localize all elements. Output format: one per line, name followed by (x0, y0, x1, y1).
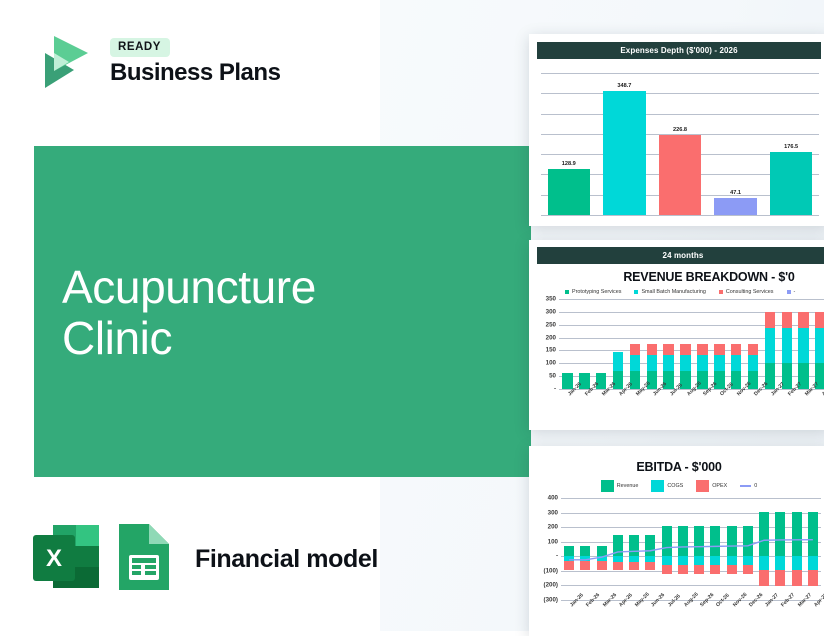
bar-segment (748, 355, 758, 370)
legend-label: - (794, 289, 796, 295)
bar-column[interactable] (724, 498, 740, 600)
ebitda-plot-area: 400300200100-(100)(200)(300) (561, 498, 821, 600)
y-axis-tick: 250 (546, 321, 556, 328)
bar-segment (662, 526, 672, 556)
bar-segment (815, 328, 824, 363)
chart-title-ebitda: EBITDA - $'000 (529, 460, 824, 474)
stacked-bar-negative[interactable] (662, 556, 672, 573)
bar-column[interactable] (642, 498, 658, 600)
bar-segment (680, 344, 690, 355)
y-axis-tick: - (556, 553, 558, 560)
bar-column[interactable] (576, 299, 593, 389)
stacked-bar-positive[interactable] (759, 512, 769, 557)
bar-column[interactable]: 128.9 (541, 73, 597, 215)
stacked-bar-positive[interactable] (694, 526, 704, 556)
bar-column[interactable] (772, 498, 788, 600)
brand-name: Business Plans (110, 60, 280, 86)
bar-segment (629, 535, 639, 556)
legend-swatch (740, 485, 751, 487)
stacked-bar-negative[interactable] (629, 556, 639, 570)
expenses-plot-area: 128.9348.7226.847.1176.5 (541, 73, 819, 215)
bar-column[interactable] (643, 299, 660, 389)
bar-segment (798, 328, 808, 363)
bar-segment (564, 561, 574, 570)
chart-title-revenue: REVENUE BREAKDOWN - $'0 (529, 270, 824, 284)
legend-label: Consulting Services (726, 289, 774, 295)
bar-segment (562, 373, 572, 389)
bar-segment (714, 344, 724, 355)
bar-segment (759, 556, 769, 569)
bar-segment (714, 355, 724, 370)
svg-text:X: X (46, 545, 62, 572)
legend-label: COGS (667, 483, 683, 489)
bar-segment (613, 562, 623, 571)
financial-model-label: Financial model (195, 545, 378, 574)
stacked-bar-negative[interactable] (710, 556, 720, 573)
gridline (541, 215, 819, 216)
bar-column[interactable] (610, 498, 626, 600)
brand-logo-block: READY Business Plans (34, 31, 280, 93)
bar-column[interactable]: 348.7 (597, 73, 653, 215)
legend-label: Prototyping Services (572, 289, 621, 295)
revenue-x-axis-labels: Jan-26Feb-26Mar-26Apr-26May-26Jun-26Jul-… (559, 391, 824, 419)
bar-segment (743, 526, 753, 556)
bar-column[interactable]: 226.8 (652, 73, 708, 215)
bar-segment (678, 556, 688, 564)
legend-swatch (601, 480, 614, 492)
bar-segment (727, 556, 737, 564)
bar-segment (597, 561, 607, 570)
play-triangles-logo-icon (34, 31, 96, 93)
bar-column[interactable]: 176.5 (763, 73, 819, 215)
legend-label: 0 (754, 483, 757, 489)
legend-label: Revenue (617, 483, 639, 489)
stacked-bar-negative[interactable] (694, 556, 704, 573)
bar-column[interactable] (711, 299, 728, 389)
bar-segment (630, 344, 640, 355)
bar-column[interactable] (594, 498, 610, 600)
bar-segment (808, 570, 818, 586)
bar[interactable] (603, 91, 645, 215)
stacked-bar-positive[interactable] (743, 526, 753, 556)
legend-swatch (634, 290, 638, 294)
bar-column[interactable] (728, 299, 745, 389)
bar-segment (694, 556, 704, 564)
bar-segment (697, 355, 707, 370)
bar-segment (663, 355, 673, 370)
bar-segment (645, 562, 655, 571)
bar-segment (808, 512, 818, 557)
bar-segment (697, 344, 707, 355)
chart-band-revenue: 24 months (537, 247, 824, 264)
bar-column[interactable] (805, 498, 821, 600)
bar-value-label: 348.7 (617, 83, 631, 89)
stacked-bar-negative[interactable] (808, 556, 818, 585)
stacked-bar-negative[interactable] (564, 556, 574, 570)
bar-segment (694, 565, 704, 574)
stacked-bar-positive[interactable] (792, 512, 802, 557)
bar-column[interactable] (677, 299, 694, 389)
stacked-bar-negative[interactable] (727, 556, 737, 573)
stacked-bar[interactable] (798, 312, 808, 389)
stacked-bar-negative[interactable] (743, 556, 753, 573)
bar-column[interactable] (762, 299, 779, 389)
bar-column[interactable] (577, 498, 593, 600)
stacked-bar-positive[interactable] (564, 546, 574, 556)
stacked-bar[interactable] (815, 312, 824, 389)
stacked-bar-positive[interactable] (613, 535, 623, 556)
bar-segment (782, 328, 792, 363)
bar-segment (710, 565, 720, 574)
bar-segment (564, 546, 574, 556)
legend-label: Small Batch Manufacturing (641, 289, 705, 295)
bar-value-label: 47.1 (730, 190, 741, 196)
bar-segment (645, 535, 655, 556)
legend-swatch (787, 290, 791, 294)
bar-segment (727, 526, 737, 556)
bar-column[interactable] (660, 299, 677, 389)
bar-column[interactable] (675, 498, 691, 600)
bar-column[interactable] (610, 299, 627, 389)
page-title: Acupuncture Clinic (62, 262, 482, 363)
legend-label: OPEX (712, 483, 727, 489)
bar-segment (710, 556, 720, 564)
y-axis-tick: 400 (548, 495, 558, 502)
y-axis-tick: (100) (544, 567, 558, 574)
y-axis-tick: 100 (546, 360, 556, 367)
bar-segment (759, 512, 769, 557)
bar-segment (630, 355, 640, 370)
chart-card-expenses[interactable]: Expenses Depth ($'000) - 2026 128.9348.7… (529, 34, 824, 226)
y-axis-tick: 350 (546, 296, 556, 303)
bar-segment (815, 312, 824, 328)
bar-segment (765, 328, 775, 363)
chart-card-revenue-breakdown[interactable]: 24 months REVENUE BREAKDOWN - $'0 Protot… (529, 240, 824, 430)
bar-segment (710, 526, 720, 556)
google-sheets-file-icon (115, 521, 173, 598)
bar-column[interactable] (789, 498, 805, 600)
ebitda-x-axis-labels: Jan-26Feb-26Mar-26Apr-26May-26Jun-26Jul-… (561, 602, 821, 628)
y-axis-tick: 200 (546, 334, 556, 341)
stacked-bar-negative[interactable] (775, 556, 785, 585)
stacked-bar-negative[interactable] (580, 556, 590, 570)
stacked-bar[interactable] (562, 373, 572, 389)
bar-segment (775, 556, 785, 569)
stacked-bar[interactable] (731, 344, 741, 389)
legend-item[interactable]: Small Batch Manufacturing (634, 289, 705, 295)
stacked-bar-positive[interactable] (678, 526, 688, 556)
y-axis-tick: 50 (549, 373, 556, 380)
bar[interactable] (659, 135, 701, 216)
bar-column[interactable] (795, 299, 812, 389)
bar-segment (727, 565, 737, 574)
bar-segment (775, 570, 785, 586)
bar-column[interactable] (745, 299, 762, 389)
bar-segment (647, 355, 657, 370)
bar-segment (743, 556, 753, 564)
legend-item[interactable]: Prototyping Services (565, 289, 621, 295)
bar-column[interactable] (778, 299, 795, 389)
bar-segment (678, 565, 688, 574)
stacked-bar-positive[interactable] (808, 512, 818, 557)
stacked-bar-negative[interactable] (597, 556, 607, 570)
legend-item[interactable]: COGS (651, 480, 683, 492)
ready-badge: READY (110, 38, 170, 57)
bar-column[interactable] (812, 299, 824, 389)
bar-column[interactable] (659, 498, 675, 600)
stacked-bar-positive[interactable] (775, 512, 785, 557)
bar-segment (597, 546, 607, 556)
legend-swatch (696, 480, 709, 492)
revenue-plot-area: 35030025020015010050- (559, 299, 824, 389)
bar-segment (808, 556, 818, 569)
legend-swatch (651, 480, 664, 492)
legend-item[interactable]: Revenue (601, 480, 639, 492)
y-axis-tick: 150 (546, 347, 556, 354)
file-format-row: X Financial model (31, 521, 378, 598)
bar-segment (694, 526, 704, 556)
bar-segment (662, 565, 672, 574)
stacked-bar-negative[interactable] (678, 556, 688, 573)
bar-column[interactable] (691, 498, 707, 600)
stacked-bar-positive[interactable] (580, 546, 590, 556)
y-axis-tick: (300) (544, 597, 558, 604)
stacked-bar-positive[interactable] (597, 546, 607, 556)
bar-segment (792, 570, 802, 586)
bar-segment (792, 512, 802, 557)
bar-column[interactable] (593, 299, 610, 389)
bar-column[interactable]: 47.1 (708, 73, 764, 215)
bar-segment (662, 556, 672, 564)
stacked-bar[interactable] (782, 312, 792, 389)
legend-item[interactable]: - (787, 289, 796, 295)
bar-value-label: 226.8 (673, 127, 687, 133)
bar[interactable] (548, 169, 590, 215)
legend-swatch (565, 290, 569, 294)
bar-value-label: 128.9 (562, 161, 576, 167)
bar-segment (580, 561, 590, 570)
stacked-bar[interactable] (765, 312, 775, 389)
y-axis-tick: - (554, 386, 556, 393)
stacked-bar-positive[interactable] (629, 535, 639, 556)
bar-column[interactable] (561, 498, 577, 600)
bar-segment (731, 355, 741, 370)
chart-legend-revenue: Prototyping ServicesSmall Batch Manufact… (529, 289, 824, 295)
chart-card-ebitda[interactable]: EBITDA - $'000 RevenueCOGSOPEX0 40030020… (529, 446, 824, 636)
bar-segment (580, 546, 590, 556)
legend-item[interactable]: OPEX (696, 480, 727, 492)
bar-segment (663, 344, 673, 355)
y-axis-tick: 100 (548, 538, 558, 545)
bar-segment (647, 344, 657, 355)
y-axis-tick: 200 (548, 524, 558, 531)
y-axis-tick: (200) (544, 582, 558, 589)
bar-segment (782, 312, 792, 328)
stacked-bar-positive[interactable] (645, 535, 655, 556)
bar-segment (613, 535, 623, 556)
bar-segment (680, 355, 690, 370)
stacked-bar-positive[interactable] (662, 526, 672, 556)
stacked-bar[interactable] (680, 344, 690, 389)
stacked-bar-negative[interactable] (792, 556, 802, 585)
stacked-bar-negative[interactable] (613, 556, 623, 570)
stacked-bar-positive[interactable] (727, 526, 737, 556)
y-axis-tick: 300 (548, 509, 558, 516)
stacked-bar-negative[interactable] (759, 556, 769, 585)
chart-legend-ebitda: RevenueCOGSOPEX0 (529, 480, 824, 492)
bar-column[interactable] (756, 498, 772, 600)
bar-segment (613, 352, 623, 371)
chart-band-expenses: Expenses Depth ($'000) - 2026 (537, 42, 821, 59)
stacked-bar-negative[interactable] (645, 556, 655, 570)
bar-segment (678, 526, 688, 556)
bar-column[interactable] (627, 299, 644, 389)
bar-segment (629, 562, 639, 571)
bar-column[interactable] (707, 498, 723, 600)
bar-segment (792, 556, 802, 569)
bar-value-label: 176.5 (784, 144, 798, 150)
bar[interactable] (714, 198, 756, 215)
y-axis-tick: 300 (546, 308, 556, 315)
excel-file-icon: X (31, 521, 101, 598)
bar-segment (731, 344, 741, 355)
bar-segment (765, 312, 775, 328)
bar-column[interactable] (694, 299, 711, 389)
bar-segment (743, 565, 753, 574)
bar-segment (748, 344, 758, 355)
legend-item[interactable]: Consulting Services (719, 289, 774, 295)
bar[interactable] (770, 152, 812, 215)
bar-column[interactable] (626, 498, 642, 600)
bar-column[interactable] (559, 299, 576, 389)
bar-segment (798, 312, 808, 328)
bar-segment (775, 512, 785, 557)
legend-item[interactable]: 0 (740, 483, 757, 489)
bar-segment (759, 570, 769, 586)
stacked-bar-positive[interactable] (710, 526, 720, 556)
legend-swatch (719, 290, 723, 294)
bar-column[interactable] (740, 498, 756, 600)
